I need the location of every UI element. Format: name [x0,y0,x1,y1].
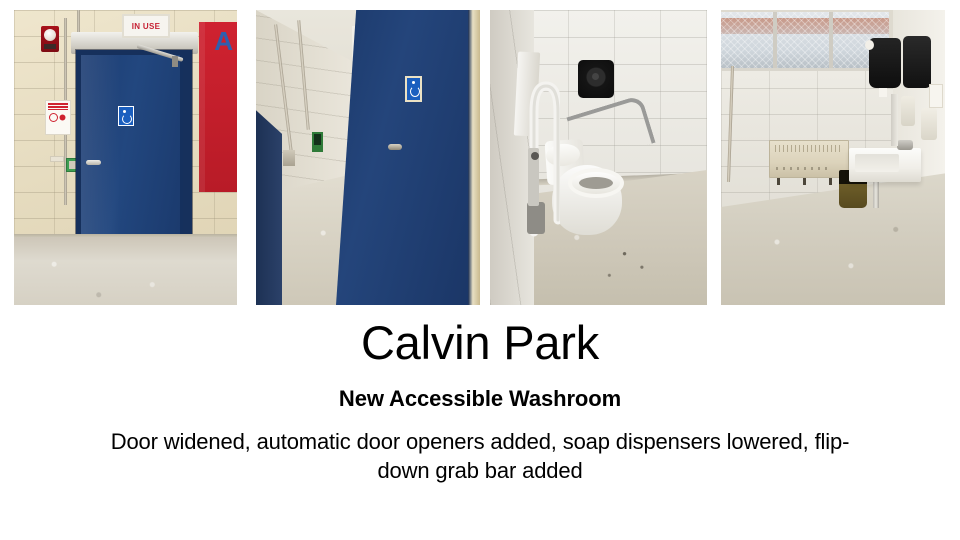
paper-towel-sheet [879,88,887,97]
wall-plate-icon [283,150,295,166]
photo-washroom-door-open-interior[interactable] [256,10,480,305]
photo-sink-radiator-soap-dispensers[interactable] [721,10,945,305]
toilet-seat [568,168,624,198]
door-closer-bracket-icon [172,56,178,67]
soap-dispenser-icon[interactable] [901,96,915,126]
photo-toilet-with-flip-down-grab-bar[interactable] [490,10,707,305]
door-edge [468,10,480,305]
in-use-sign: IN USE [122,14,170,38]
paper-towel-dispenser-icon[interactable] [869,38,901,88]
text-block: Calvin Park New Accessible Washroom Door… [0,318,960,485]
window-mullion [773,12,777,68]
door-lever-handle-icon[interactable] [388,144,402,150]
door-lever-handle-icon[interactable] [86,160,101,165]
window [721,12,889,71]
toilet-paper-dispenser-icon [578,60,614,98]
washroom-door[interactable] [81,55,183,245]
accessibility-placard-icon [118,106,134,126]
flip-down-grab-bar[interactable] [526,52,560,242]
radiator-legs [777,178,839,185]
subtitle: New Accessible Washroom [0,387,960,411]
soap-dispenser-secondary-icon[interactable] [921,108,937,140]
fire-alarm-icon [41,26,59,52]
window-mullion-secondary [829,12,833,68]
sink-drain-pipe [873,182,879,208]
slide: A IN USE [0,0,960,540]
wall-sign [929,84,943,108]
sink [849,148,921,182]
bulletin-board-letter: A [214,28,233,54]
body-description: Door widened, automatic door openers add… [85,427,875,486]
corridor-floor [14,237,237,305]
faucet-icon[interactable] [897,140,913,150]
photo-strip: A IN USE [0,0,960,310]
photo-accessible-washroom-door-exterior[interactable]: A IN USE [14,10,237,305]
open-washroom-door[interactable] [336,10,480,305]
page-title: Calvin Park [0,318,960,369]
paper-towel-dispenser-secondary-icon[interactable] [903,36,931,88]
accessibility-placard-icon [405,76,422,102]
wall-label-tag [50,156,64,162]
radiator [769,140,849,178]
no-smoking-sign [45,100,71,135]
in-use-sign-label: IN USE [132,22,160,31]
wall-mounted-green-box-icon [312,132,323,152]
mirror [891,94,898,146]
